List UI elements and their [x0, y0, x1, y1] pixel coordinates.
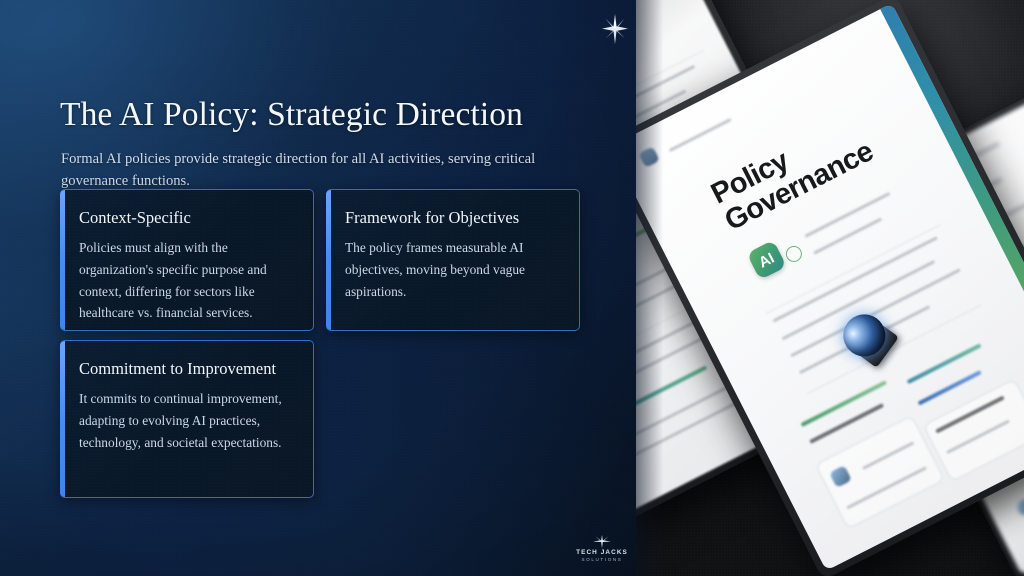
slide: The AI Policy: Strategic Direction Forma…	[0, 0, 1024, 576]
card-body: It commits to continual improvement, ada…	[79, 388, 293, 453]
info-card-context-specific[interactable]: Context-Specific Policies must align wit…	[60, 189, 314, 331]
content-panel: The AI Policy: Strategic Direction Forma…	[0, 0, 636, 576]
brand-logo: TECH JACKS SOLUTIONS	[572, 535, 632, 565]
card-title: Context-Specific	[79, 208, 293, 228]
card-title: Commitment to Improvement	[79, 359, 293, 379]
card-body: The policy frames measurable AI objectiv…	[345, 237, 559, 302]
info-card-framework-for-objectives[interactable]: Framework for Objectives The policy fram…	[326, 189, 580, 331]
page-title: The AI Policy: Strategic Direction	[60, 96, 605, 135]
hero-photo: Policy Governance AI	[636, 0, 1024, 576]
logo-secondary-text: SOLUTIONS	[572, 557, 632, 562]
card-title: Framework for Objectives	[345, 208, 559, 228]
star-burst-icon	[593, 535, 611, 548]
sparkle-icon	[602, 14, 628, 44]
card-body: Policies must align with the organizatio…	[79, 237, 293, 324]
logo-primary-text: TECH JACKS	[572, 549, 632, 556]
page-subtitle: Formal AI policies provide strategic dir…	[61, 148, 561, 193]
info-card-commitment-to-improvement[interactable]: Commitment to Improvement It commits to …	[60, 340, 314, 498]
